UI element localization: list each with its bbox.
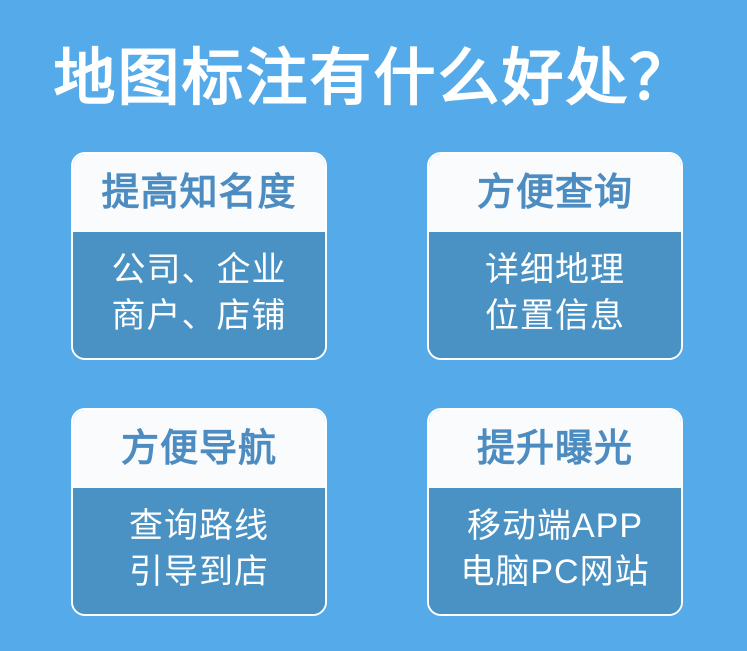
benefit-card-body: 移动端APP 电脑PC网站 [429, 488, 681, 614]
benefit-card-header-label: 方便导航 [121, 427, 277, 471]
benefit-card-body-line: 商户、店铺 [112, 293, 287, 339]
benefit-card-body-line: 公司、企业 [112, 247, 287, 293]
benefit-card-header: 方便查询 [429, 154, 681, 232]
benefit-card-body-line: 移动端APP [467, 503, 643, 549]
benefit-card-header: 提高知名度 [73, 154, 325, 232]
benefit-card-body: 详细地理 位置信息 [429, 232, 681, 358]
benefit-card-body-line: 位置信息 [485, 293, 625, 339]
infographic-page: { "page": { "title": "地图标注有什么好处？", "back… [0, 0, 747, 651]
benefit-card-body-line: 引导到店 [129, 549, 269, 595]
benefit-card-header-label: 提高知名度 [101, 171, 296, 215]
benefit-card-header-label: 提升曝光 [477, 427, 633, 471]
benefit-card[interactable]: 方便查询 详细地理 位置信息 [427, 152, 683, 360]
page-title: 地图标注有什么好处？ [0, 44, 747, 114]
benefit-card[interactable]: 提升曝光 移动端APP 电脑PC网站 [427, 408, 683, 616]
benefit-card-body: 查询路线 引导到店 [73, 488, 325, 614]
benefit-card[interactable]: 提高知名度 公司、企业 商户、店铺 [71, 152, 327, 360]
benefit-card-header: 提升曝光 [429, 410, 681, 488]
benefit-card-header-label: 方便查询 [477, 171, 633, 215]
benefit-card-grid: 提高知名度 公司、企业 商户、店铺 方便查询 详细地理 位置信息 方便导航 查询… [0, 152, 747, 622]
benefit-card[interactable]: 方便导航 查询路线 引导到店 [71, 408, 327, 616]
benefit-card-body-line: 电脑PC网站 [460, 549, 649, 595]
benefit-card-header: 方便导航 [73, 410, 325, 488]
benefit-card-body-line: 查询路线 [129, 503, 269, 549]
benefit-card-body: 公司、企业 商户、店铺 [73, 232, 325, 358]
benefit-card-body-line: 详细地理 [485, 247, 625, 293]
